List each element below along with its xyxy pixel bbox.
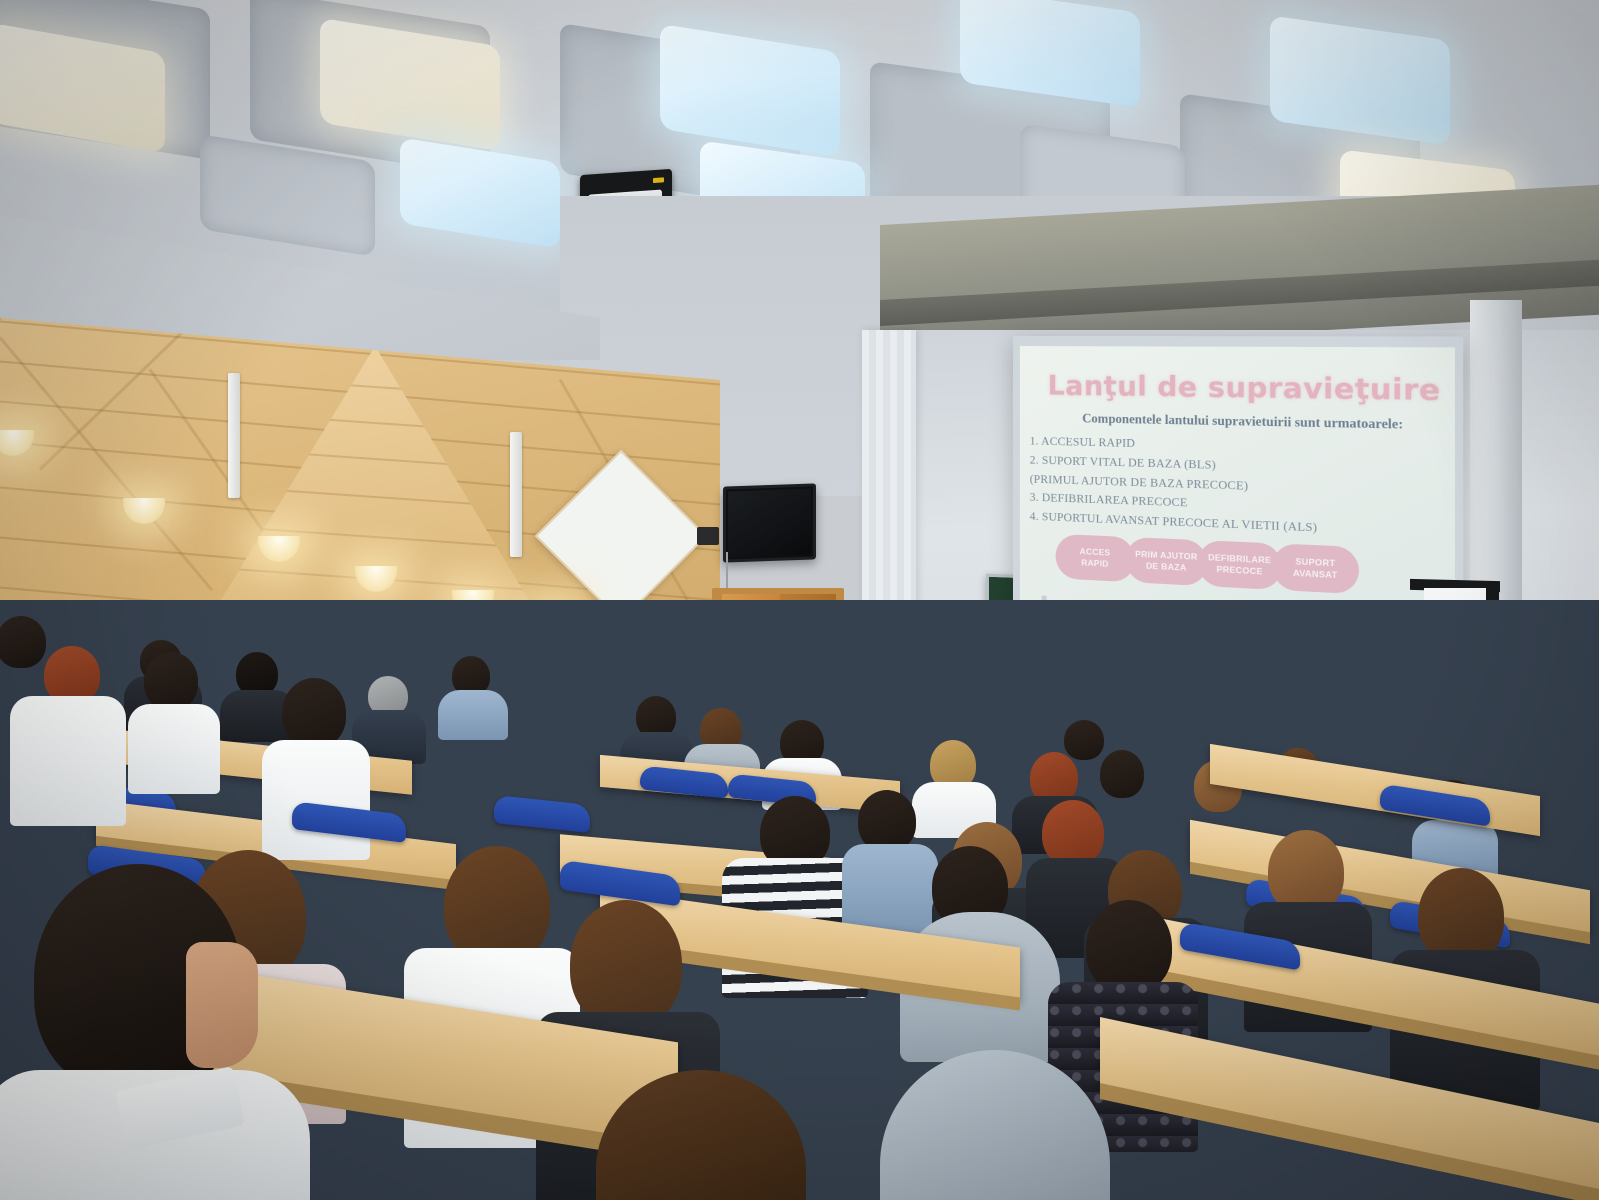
chain-of-survival-diagram: ACCES RAPID PRIM AJUTOR DE BAZA DEFIBRIL… (1056, 534, 1349, 594)
audience-body (262, 740, 370, 860)
slide-title: Lanţul de supravieţuire (1048, 370, 1441, 407)
foreground-person-face (186, 942, 258, 1068)
audience-body (128, 704, 220, 794)
capsule-line-2: PRECOCE (1217, 564, 1263, 578)
audience-head (1042, 800, 1104, 866)
audience-body (10, 696, 126, 826)
chain-capsule: ACCES RAPID (1056, 534, 1135, 583)
tv-wall-mount (697, 527, 719, 545)
chain-capsule: PRIM AJUTOR DE BAZA (1126, 537, 1208, 586)
capsule-line-2: RAPID (1081, 557, 1109, 569)
chain-capsule: SUPORT AVANSAT (1272, 543, 1359, 594)
audience-head (1064, 720, 1104, 760)
seating-area (0, 600, 1599, 1200)
lecture-desk (1210, 744, 1540, 836)
audience-head (1086, 900, 1172, 994)
audience-head (0, 616, 46, 668)
audience-body (842, 844, 938, 934)
audience-head (144, 652, 198, 710)
wall-mounted-tv[interactable] (723, 483, 816, 562)
lecture-hall-photo: Lanţul de supravieţuire Componentele lan… (0, 0, 1599, 1200)
sconce-mount-bar (228, 373, 240, 498)
slide-subtitle: Componentele lantului supravietuirii sun… (1046, 411, 1446, 434)
audience-head (282, 678, 346, 748)
audience-head (1100, 750, 1144, 798)
audience-body (438, 690, 508, 740)
audience-head (858, 790, 916, 852)
chain-capsule: DEFIBRILARE PRECOCE (1198, 540, 1282, 590)
sconce-mount-bar (510, 432, 522, 557)
slide-bullet-list: 1. ACCESUL RAPID 2. SUPORT VITAL DE BAZA… (1030, 432, 1448, 544)
audience-head (570, 900, 682, 1028)
ceiling-light-panel (400, 137, 560, 248)
capsule-line-2: AVANSAT (1293, 567, 1338, 581)
capsule-line-2: DE BAZA (1146, 560, 1186, 573)
auditorium-seat[interactable] (494, 795, 590, 833)
